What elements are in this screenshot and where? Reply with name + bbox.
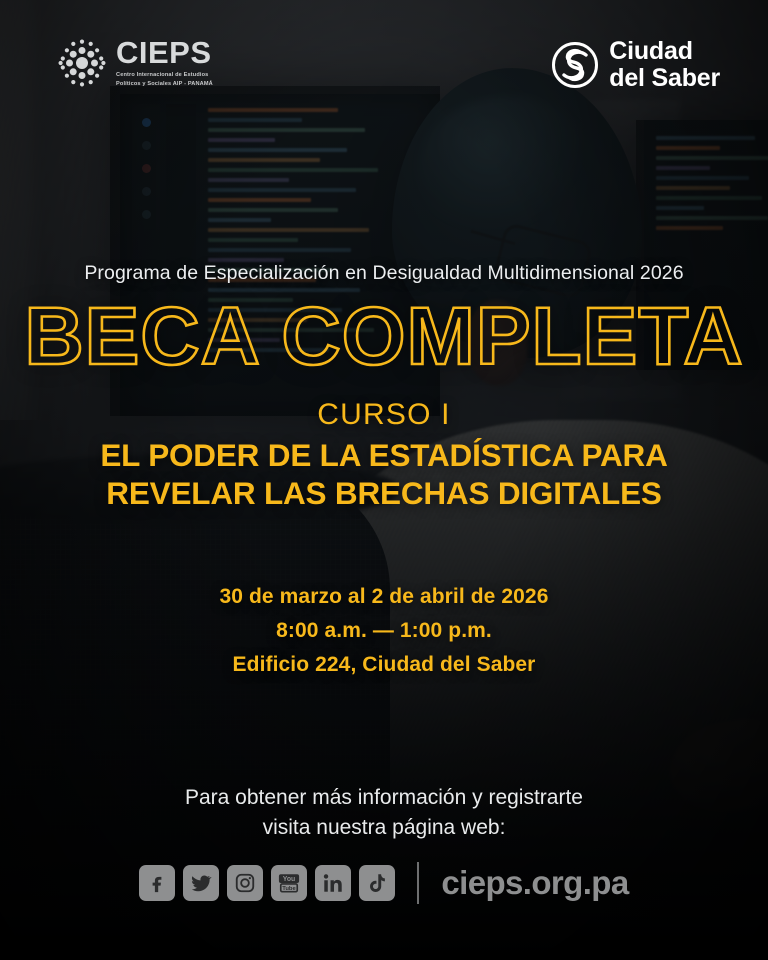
program-title: Programa de Especialización en Desiguald… [0,262,768,285]
cieps-subtitle: Centro Internacional de Estudios Polític… [116,71,213,88]
poster-root: CIEPS Centro Internacional de Estudios P… [0,0,768,960]
youtube-icon[interactable]: You Tube [271,865,307,901]
svg-text:You: You [283,876,295,883]
event-details: 30 de marzo al 2 de abril de 2026 8:00 a… [0,580,768,682]
facebook-icon[interactable] [139,865,175,901]
social-links-row: You Tube cieps.org.pa [0,862,768,904]
call-to-action: Para obtener más información y registrar… [0,783,768,844]
poster-content: CIEPS Centro Internacional de Estudios P… [0,0,768,960]
radial-dot-mandala-icon [57,38,107,88]
course-title-line1: EL PODER DE LA ESTADÍSTICA PARA [100,437,667,473]
instagram-icon[interactable] [227,865,263,901]
footer-divider [417,862,419,904]
course-title-line2: REVELAR LAS BRECHAS DIGITALES [106,475,661,511]
course-title: EL PODER DE LA ESTADÍSTICA PARA REVELAR … [0,436,768,513]
website-url[interactable]: cieps.org.pa [441,864,628,902]
twitter-icon[interactable] [183,865,219,901]
cieps-logo: CIEPS Centro Internacional de Estudios P… [57,37,213,88]
event-time: 8:00 a.m. — 1:00 p.m. [0,614,768,648]
linkedin-icon[interactable] [315,865,351,901]
tiktok-icon[interactable] [359,865,395,901]
svg-text:Tube: Tube [283,886,297,892]
cieps-wordmark-block: CIEPS Centro Internacional de Estudios P… [116,37,213,88]
event-location: Edificio 224, Ciudad del Saber [0,648,768,682]
cta-line1: Para obtener más información y registrar… [185,786,583,809]
event-dates: 30 de marzo al 2 de abril de 2026 [0,580,768,614]
ciudad-del-saber-logo: Ciudad del Saber [552,38,720,92]
cds-line1: Ciudad [609,37,693,65]
beca-completa-headline: BECA COMPLETA [0,296,768,378]
cieps-subtitle-line1: Centro Internacional de Estudios [116,72,208,78]
curso-label: CURSO I [0,398,768,432]
cieps-subtitle-line2: Políticos y Sociales AIP - PANAMÁ [116,81,213,87]
ciudad-del-saber-wordmark: Ciudad del Saber [609,38,720,92]
spiral-swirl-icon [552,42,598,88]
cds-line2: del Saber [609,64,720,92]
cieps-wordmark: CIEPS [116,37,213,68]
cta-line2: visita nuestra página web: [263,816,506,839]
